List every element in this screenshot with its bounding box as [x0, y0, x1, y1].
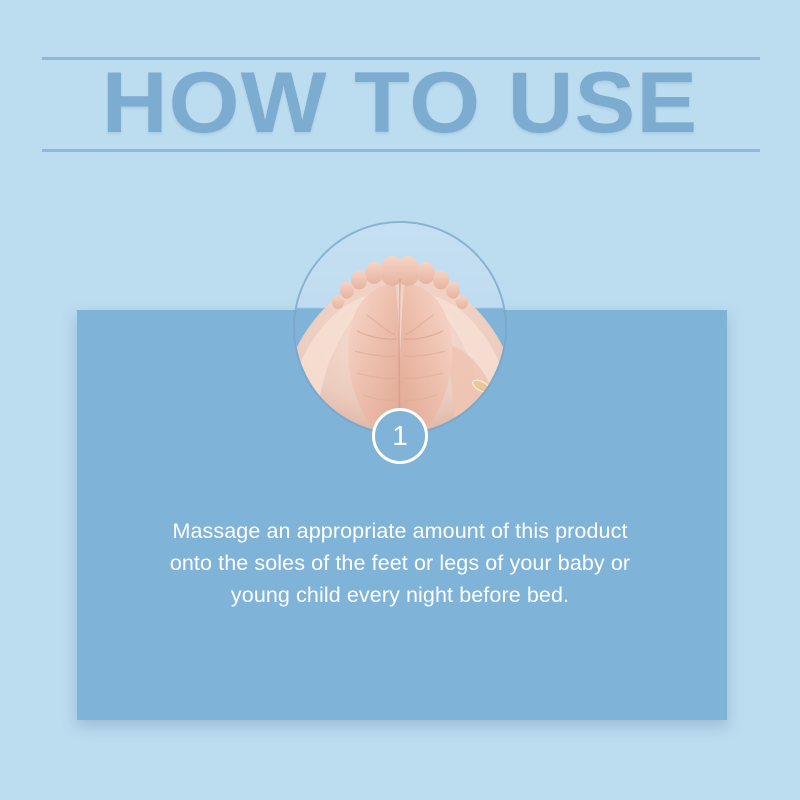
title-rule-bottom [42, 149, 760, 152]
step-description: Massage an appropriate amount of this pr… [160, 515, 640, 611]
header-block: HOW TO USE [0, 0, 800, 200]
poster-canvas: HOW TO USE [0, 0, 800, 800]
page-title: HOW TO USE [0, 55, 800, 151]
step-number-badge: 1 [372, 408, 428, 464]
baby-feet-illustration [295, 223, 505, 433]
baby-feet-photo [295, 223, 505, 433]
